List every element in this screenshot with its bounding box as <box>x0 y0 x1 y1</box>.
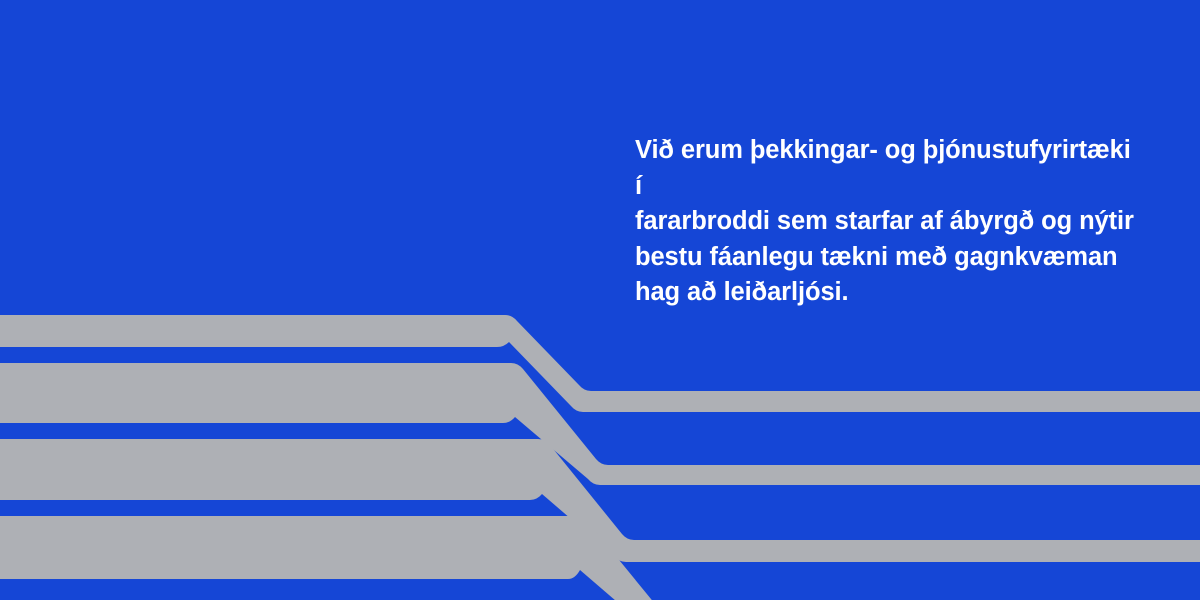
page-title: Við erum þekkingar- og þjónustufyrirtæki… <box>635 133 1135 311</box>
promo-banner: Við erum þekkingar- og þjónustufyrirtæki… <box>0 0 1200 600</box>
